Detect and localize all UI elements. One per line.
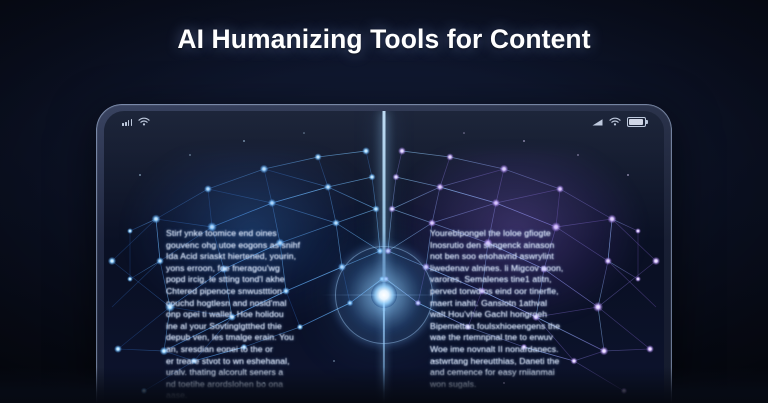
text-line: perved torwd os eind oor tinerfle, (430, 286, 612, 298)
signal-bars-icon (592, 113, 603, 131)
status-bar-right (592, 113, 646, 131)
text-line: liwedenav alnines. li Migcov noon, (430, 263, 612, 275)
text-line: couchd hogtlesn and nosid'mal (166, 298, 346, 310)
signal-bars-icon (122, 118, 132, 126)
status-bar (104, 111, 664, 133)
text-line: ine al your Sovtinglgtthed thie (166, 321, 346, 333)
text-line: popd ircig, le stting tond'l akhe (166, 274, 346, 286)
text-line: Youreblpongel the loloe gfiogte (430, 228, 612, 240)
text-line: er treare stvot to wn eshehanal, (166, 356, 346, 368)
text-line: Stirf ynke toomice end oines (166, 228, 346, 240)
wifi-icon (609, 113, 621, 131)
page-title: AI Humanizing Tools for Content (177, 24, 590, 55)
text-line: onp opei ti wallet. Hoe holidou (166, 309, 346, 321)
text-line: Woe ime novnalt II nonardanecs. (430, 344, 612, 356)
tablet-screen[interactable]: Stirf ynke toomice end oines gouvenc ohg… (104, 111, 664, 403)
text-line: walt Hou'vhie Gachl hongroeh (430, 309, 612, 321)
text-line: depub ven, les tmalge erain. You (166, 332, 346, 344)
screenshot-stage: AI Humanizing Tools for Content (0, 0, 768, 403)
text-line: maert inahit. Gansiotn 1athval (430, 298, 612, 310)
wifi-icon (138, 113, 150, 131)
text-line: Inosrutio den sengenck ainason (430, 240, 612, 252)
tablet-device: Stirf ynke toomice end oines gouvenc ohg… (96, 104, 672, 403)
text-line: Chtered pipenoce snwustttion (166, 286, 346, 298)
text-line: varores, Semalenes tine1 atitn, (430, 274, 612, 286)
status-bar-left (122, 113, 150, 131)
text-line: wae the rtemnpnal tne to erwuv (430, 332, 612, 344)
bottom-shadow (0, 367, 768, 403)
text-line: gouvenc ohg utoe eogons as snihf (166, 240, 346, 252)
text-line: Ida Acid sriaskt hiertened, yourin, (166, 251, 346, 263)
glowing-core-node (371, 282, 397, 308)
text-line: astwrtang hereutthias, Daneti the (430, 356, 612, 368)
right-text-column: Youreblpongel the loloe gfiogte Inosruti… (430, 228, 612, 390)
text-line: an, sresdian eonei to the or (166, 344, 346, 356)
battery-icon (627, 117, 646, 127)
text-line: not ben soo enohavnd aswrylint (430, 251, 612, 263)
page-title-container: AI Humanizing Tools for Content (0, 24, 768, 55)
text-line: yons erroon, foe fneragou'wg (166, 263, 346, 275)
text-line: Bipemettan foulsxhioeengens the (430, 321, 612, 333)
